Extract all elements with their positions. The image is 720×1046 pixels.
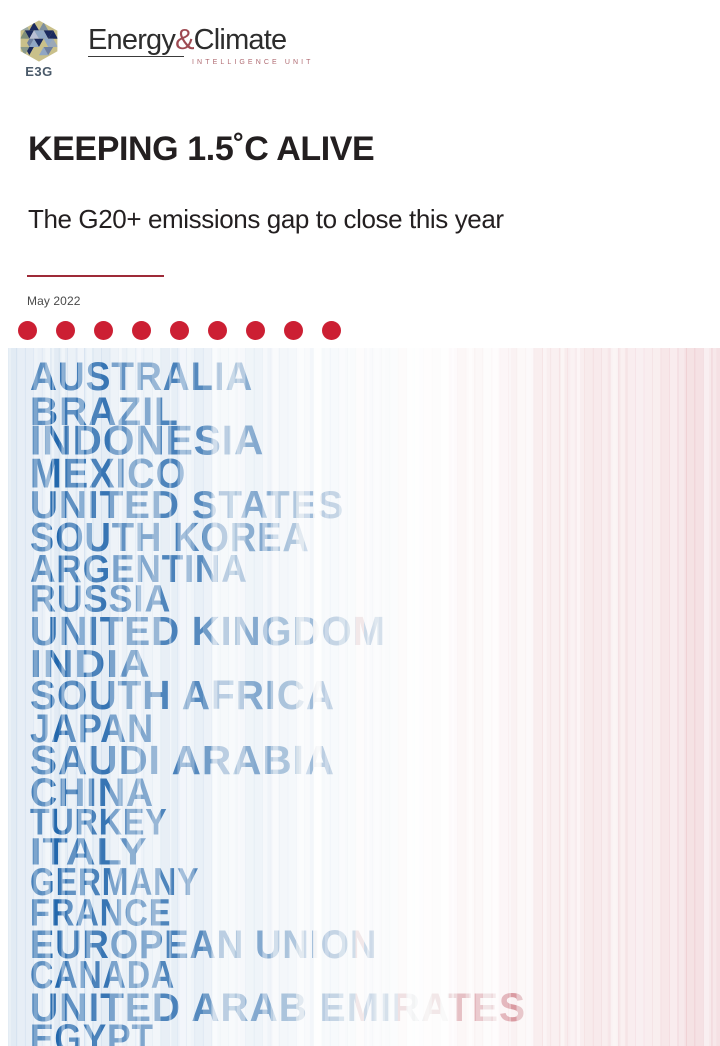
red-dot [208, 321, 227, 340]
page-subtitle: The G20+ emissions gap to close this yea… [28, 204, 504, 235]
warming-stripes-graphic: AUSTRALIABRAZILINDONESIAMEXICOUNITED STA… [8, 348, 720, 1046]
eciu-word-energy: Energy [88, 24, 175, 56]
publication-date: May 2022 [27, 294, 81, 308]
red-dot [56, 321, 75, 340]
red-dot [322, 321, 341, 340]
red-dot [18, 321, 37, 340]
warming-stripes-canvas: AUSTRALIABRAZILINDONESIAMEXICOUNITED STA… [8, 348, 720, 1046]
report-header: E3G Energy&Climate INTELLIGENCE UNIT [0, 0, 720, 100]
eciu-ampersand: & [175, 24, 194, 56]
e3g-logo: E3G [14, 18, 64, 78]
red-dots-row [18, 321, 341, 340]
eciu-wordmark: Energy&Climate [88, 26, 293, 55]
red-dot [284, 321, 303, 340]
eciu-logo: Energy&Climate INTELLIGENCE UNIT [88, 26, 293, 57]
red-dot [94, 321, 113, 340]
eciu-underline [88, 56, 184, 57]
page-title: KEEPING 1.5˚C ALIVE [28, 131, 374, 168]
hexagon-logo-icon [16, 18, 62, 64]
e3g-wordmark: E3G [25, 65, 53, 78]
red-dot [246, 321, 265, 340]
eciu-tagline: INTELLIGENCE UNIT [192, 59, 314, 66]
date-divider [27, 275, 164, 277]
red-dot [170, 321, 189, 340]
eciu-word-climate: Climate [194, 24, 287, 56]
red-dot [132, 321, 151, 340]
